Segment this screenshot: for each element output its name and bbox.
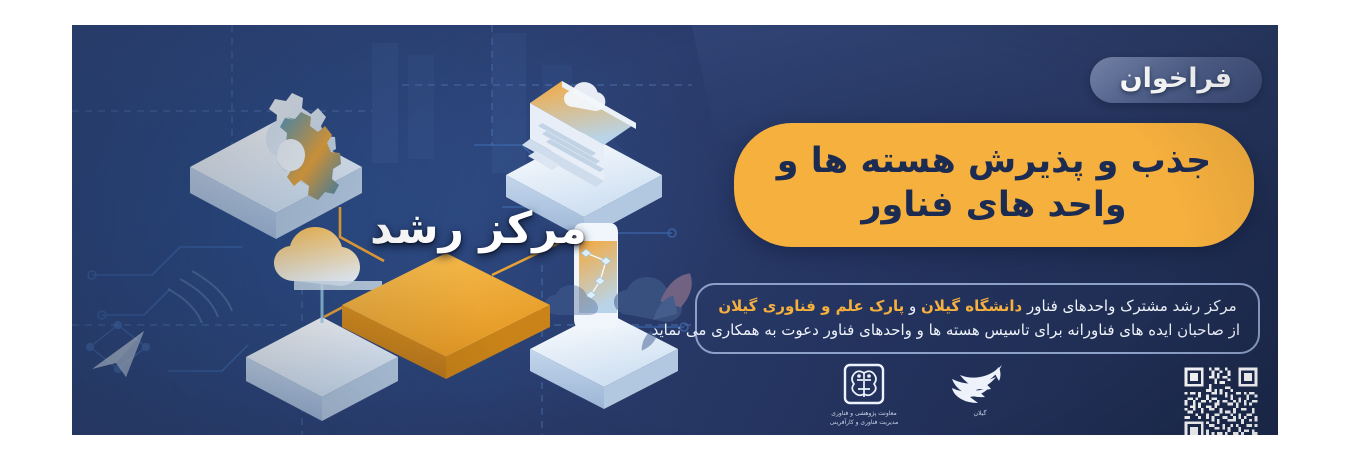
promotional-banner: مرکز رشد فراخوان جذب و پذیرش هسته ها و و… — [72, 25, 1278, 435]
banner-canvas: مرکز رشد فراخوان جذب و پذیرش هسته ها و و… — [0, 0, 1350, 460]
vignette-overlay — [72, 25, 1278, 435]
